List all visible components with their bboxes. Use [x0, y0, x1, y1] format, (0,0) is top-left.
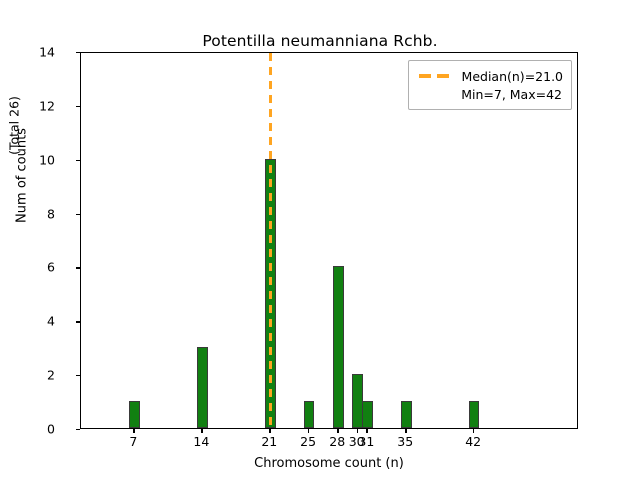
- x-tick-mark: [308, 429, 309, 433]
- x-tick-label: 42: [443, 434, 503, 449]
- y-axis-sublabel: (Total 26): [7, 26, 22, 226]
- chart-legend: Median(n)=21.0 Min=7, Max=42: [408, 60, 572, 110]
- x-tick-label: 14: [171, 434, 231, 449]
- legend-item-minmax: Min=7, Max=42: [417, 85, 563, 103]
- median-line: [269, 53, 272, 428]
- x-tick-label: 7: [103, 434, 163, 449]
- y-tick-mark: [76, 429, 80, 430]
- dashed-line-icon: [419, 67, 453, 85]
- legend-item-median-label: Median(n)=21.0: [462, 69, 563, 84]
- x-axis-label: Chromosome count (n): [80, 456, 578, 471]
- x-tick-mark: [366, 429, 367, 433]
- legend-item-minmax-label: Min=7, Max=42: [461, 87, 562, 102]
- chart-title: Potentilla neumanniana Rchb.: [0, 32, 640, 50]
- y-tick-label: 0: [15, 422, 55, 437]
- x-tick-mark: [133, 429, 134, 433]
- x-tick-mark: [357, 429, 358, 433]
- y-tick-label: 4: [15, 314, 55, 329]
- x-tick-label: 35: [375, 434, 435, 449]
- x-tick-mark: [201, 429, 202, 433]
- x-tick-mark: [269, 429, 270, 433]
- chart-figure: Potentilla neumanniana Rchb. 02468101214…: [0, 0, 640, 480]
- x-tick-mark: [405, 429, 406, 433]
- legend-item-median: Median(n)=21.0: [417, 67, 563, 85]
- y-tick-label: 2: [15, 368, 55, 383]
- x-tick-mark: [337, 429, 338, 433]
- x-tick-mark: [473, 429, 474, 433]
